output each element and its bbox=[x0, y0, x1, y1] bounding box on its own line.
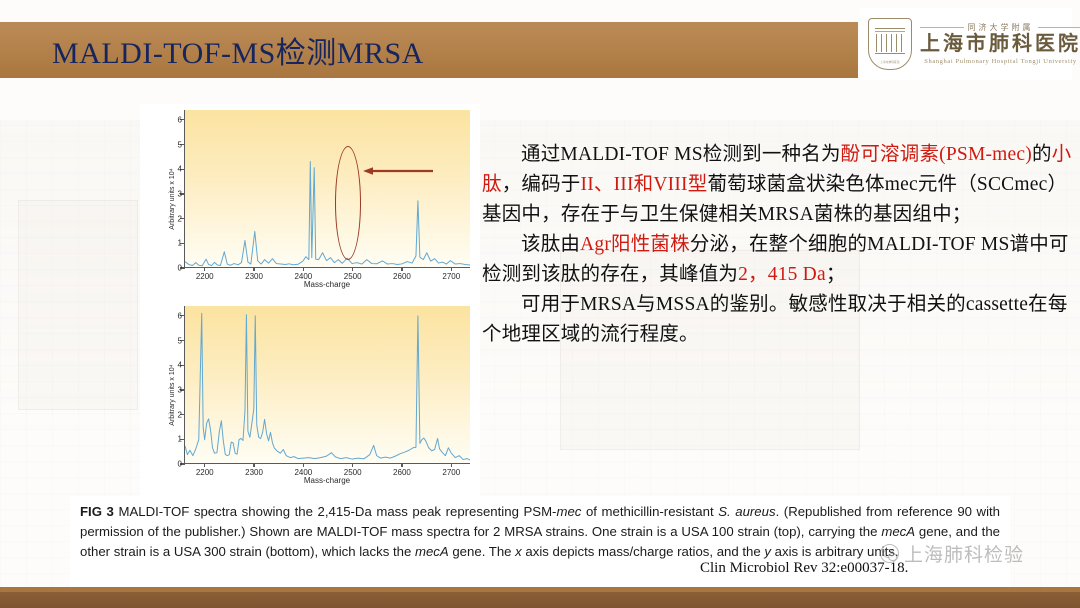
spectrum-panel-bottom: Arbitrary units x 10⁴ 012345622002300240… bbox=[140, 300, 480, 490]
spectrum-panel-top: Arbitrary units x 10⁴ 012345622002300240… bbox=[140, 104, 480, 294]
y-tick-label: 3 bbox=[178, 189, 182, 198]
caption-seg2: of methicillin-resistant bbox=[581, 504, 718, 519]
caption-seg1: MALDI-TOF spectra showing the 2,415-Da m… bbox=[118, 504, 556, 519]
plot-area-top: 0123456220023002400250026002700 bbox=[184, 110, 470, 268]
y-tick-label: 5 bbox=[178, 140, 182, 149]
x-axis-label-bottom: Mass-charge bbox=[184, 476, 470, 485]
slide-root: MALDI-TOF-MS检测MRSA 上海市肺科医院 同济大学附属 上海市肺科医… bbox=[0, 0, 1080, 608]
p1-highlight-types: II、III和VIII型 bbox=[581, 174, 708, 195]
caption-meca-italic-2: mecA bbox=[415, 544, 449, 559]
peak-callout-arrow-icon bbox=[363, 166, 435, 176]
y-axis-label-top: Arbitrary units x 10⁴ bbox=[169, 168, 176, 229]
x-tick-mark bbox=[401, 267, 402, 271]
caption-seg5: gene. The bbox=[449, 544, 515, 559]
caption-y-italic: y bbox=[764, 544, 771, 559]
y-tick-label: 2 bbox=[178, 410, 182, 419]
figure-panel: Arbitrary units x 10⁴ 012345622002300240… bbox=[140, 104, 480, 496]
y-tick-label: 2 bbox=[178, 214, 182, 223]
y-axis-label-bottom: Arbitrary units x 10⁴ bbox=[169, 364, 176, 425]
hospital-crest-icon: 上海市肺科医院 bbox=[868, 18, 912, 70]
p1-seg1: 通过MALDI-TOF MS检测到一种名为 bbox=[521, 144, 841, 165]
caption-species-italic: S. aureus bbox=[718, 504, 775, 519]
plot-area-bottom: 0123456220023002400250026002700 bbox=[184, 306, 470, 464]
figure-caption: FIG 3 MALDI-TOF spectra showing the 2,41… bbox=[70, 496, 1010, 592]
hospital-logo: 上海市肺科医院 同济大学附属 上海市肺科医院 Shanghai Pulmonar… bbox=[860, 8, 1072, 80]
y-tick-label: 4 bbox=[178, 361, 182, 370]
background-ornament bbox=[18, 200, 138, 410]
caption-x-italic: x bbox=[515, 544, 522, 559]
x-tick-mark bbox=[401, 463, 402, 467]
journal-citation: Clin Microbiol Rev 32:e00037-18. bbox=[700, 560, 908, 577]
paragraph-1: 通过MALDI-TOF MS检测到一种名为酚可溶调素(PSM-mec)的小肽，编… bbox=[482, 140, 1074, 230]
x-tick-mark bbox=[253, 463, 254, 467]
p2-highlight-mass: 2，415 Da bbox=[738, 264, 826, 285]
y-tick-label: 5 bbox=[178, 336, 182, 345]
paragraph-2: 该肽由Agr阳性菌株分泌，在整个细胞的MALDI-TOF MS谱中可检测到该肽的… bbox=[482, 230, 1074, 290]
p2-highlight-agr: Agr阳性菌株 bbox=[580, 234, 690, 255]
y-tick-label: 0 bbox=[178, 460, 182, 469]
logo-hospital-name-en: Shanghai Pulmonary Hospital Tongji Unive… bbox=[920, 58, 1080, 65]
bottom-bar bbox=[0, 592, 1080, 608]
p1-highlight-psm: 酚可溶调素(PSM-mec) bbox=[841, 144, 1032, 165]
caption-fig-label: FIG 3 bbox=[80, 504, 114, 519]
slide-title-bar: MALDI-TOF-MS检测MRSA bbox=[0, 22, 858, 78]
caption-seg7: axis is arbitrary units. bbox=[771, 544, 899, 559]
x-tick-mark bbox=[303, 463, 304, 467]
x-tick-mark bbox=[303, 267, 304, 271]
x-tick-mark bbox=[204, 463, 205, 467]
caption-mec-italic: mec bbox=[556, 504, 581, 519]
x-tick-mark bbox=[451, 267, 452, 271]
y-tick-label: 6 bbox=[178, 115, 182, 124]
y-tick-label: 6 bbox=[178, 311, 182, 320]
x-tick-mark bbox=[204, 267, 205, 271]
logo-hospital-name: 上海市肺科医院 bbox=[920, 33, 1080, 56]
x-axis-label-top: Mass-charge bbox=[184, 280, 470, 289]
caption-text: FIG 3 MALDI-TOF spectra showing the 2,41… bbox=[80, 502, 1000, 562]
y-tick-label: 0 bbox=[178, 264, 182, 273]
caption-seg6: axis depicts mass/charge ratios, and the bbox=[522, 544, 765, 559]
x-tick-mark bbox=[451, 463, 452, 467]
paragraph-3: 可用于MRSA与MSSA的鉴别。敏感性取决于相关的cassette在每个地理区域… bbox=[482, 290, 1074, 350]
y-tick-label: 1 bbox=[178, 239, 182, 248]
p1-seg2: 的 bbox=[1032, 144, 1052, 165]
x-tick-mark bbox=[352, 267, 353, 271]
caption-meca-italic-1: mecA bbox=[881, 524, 915, 539]
x-tick-mark bbox=[253, 267, 254, 271]
page-title: MALDI-TOF-MS检测MRSA bbox=[52, 28, 424, 72]
logo-wordmark: 同济大学附属 上海市肺科医院 Shanghai Pulmonary Hospit… bbox=[920, 23, 1080, 66]
crest-caption: 上海市肺科医院 bbox=[877, 61, 903, 64]
p2-seg1: 该肽由 bbox=[521, 234, 580, 255]
x-tick-mark bbox=[352, 463, 353, 467]
spectrum-trace-bottom bbox=[185, 306, 470, 463]
spectrum-trace-top bbox=[185, 110, 470, 267]
body-text: 通过MALDI-TOF MS检测到一种名为酚可溶调素(PSM-mec)的小肽，编… bbox=[482, 140, 1074, 350]
p2-seg3: ； bbox=[826, 264, 846, 285]
logo-affiliation: 同济大学附属 bbox=[920, 23, 1080, 32]
y-tick-label: 4 bbox=[178, 165, 182, 174]
p1-seg3: ，编码于 bbox=[502, 174, 581, 195]
y-tick-label: 1 bbox=[178, 435, 182, 444]
y-tick-label: 3 bbox=[178, 385, 182, 394]
